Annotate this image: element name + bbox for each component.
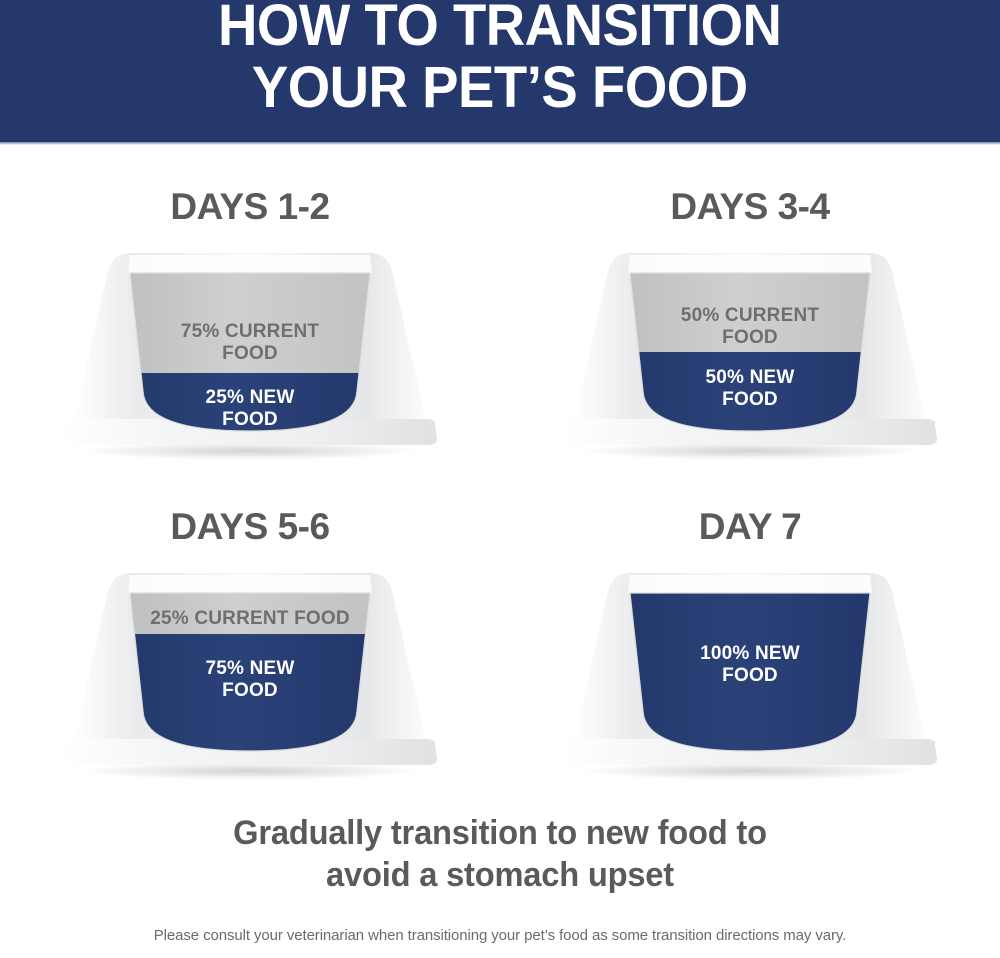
- bowl-svg: [35, 243, 465, 463]
- transition-step-card: DAYS 5-6 25% CURRENT FOOD: [0, 480, 500, 800]
- food-bowl-illustration: 25% CURRENT FOOD 75% NEW FOOD: [35, 563, 465, 783]
- footer: Gradually transition to new food to avoi…: [0, 812, 1000, 946]
- food-bowl-illustration: 100% NEW FOOD: [535, 563, 965, 783]
- footer-disclaimer: Please consult your veterinarian when tr…: [0, 926, 1000, 946]
- food-bowl-illustration: 75% CURRENT FOOD 25% NEW FOOD: [35, 243, 465, 463]
- header-title-line2: YOUR PET’S FOOD: [252, 58, 748, 118]
- bowl-svg: [535, 243, 965, 463]
- food-bowl-illustration: 50% CURRENT FOOD 50% NEW FOOD: [535, 243, 965, 463]
- header-title-line1: HOW TO TRANSITION: [218, 0, 781, 56]
- transition-step-card: DAY 7 100% NEW FOOD: [500, 480, 1000, 800]
- footer-headline-line2: avoid a stomach upset: [20, 854, 980, 896]
- step-title: DAYS 1-2: [170, 185, 329, 229]
- bowl-svg: [35, 563, 465, 783]
- banner-underline: [0, 142, 1000, 145]
- transition-step-card: DAYS 1-2: [0, 160, 500, 480]
- bowl-svg: [535, 563, 965, 783]
- transition-step-card: DAYS 3-4 50% CURRENT FOOD: [500, 160, 1000, 480]
- step-title: DAY 7: [699, 505, 801, 549]
- footer-headline-line1: Gradually transition to new food to: [20, 812, 980, 854]
- step-title: DAYS 3-4: [670, 185, 829, 229]
- transition-steps-grid: DAYS 1-2: [0, 160, 1000, 800]
- header-banner: HOW TO TRANSITION YOUR PET’S FOOD: [0, 0, 1000, 142]
- step-title: DAYS 5-6: [170, 505, 329, 549]
